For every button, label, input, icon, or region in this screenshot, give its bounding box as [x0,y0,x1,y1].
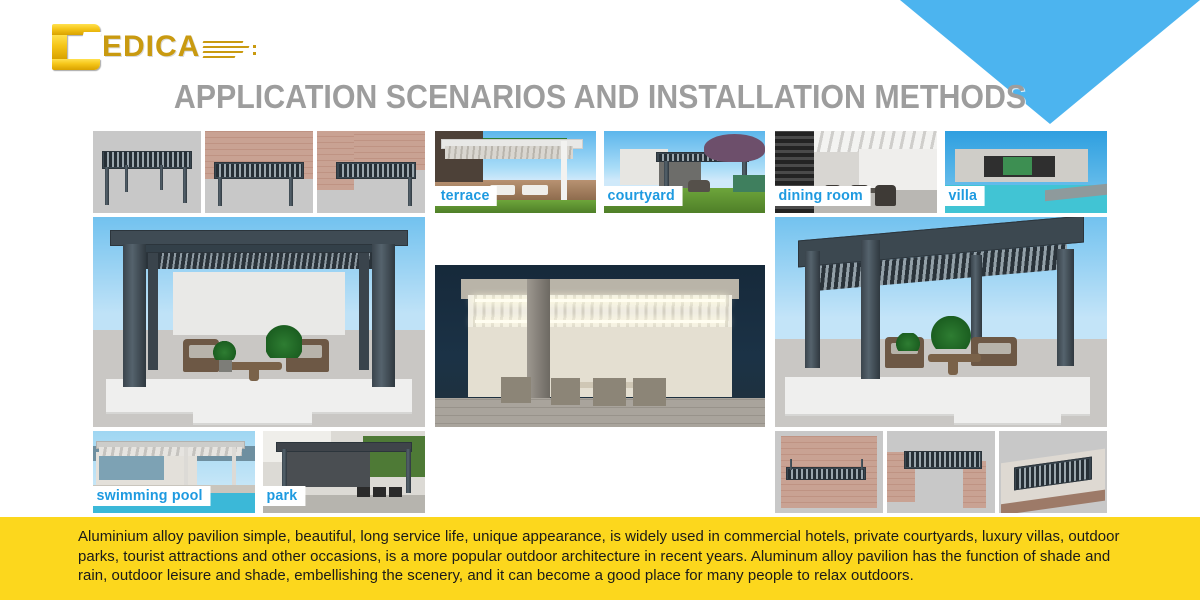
description-banner: Aluminium alloy pavilion simple, beautif… [0,517,1200,600]
brand-logo: EDICA [52,24,256,70]
photo-caption-swimming-pool: swimming pool [93,486,210,506]
description-text: Aluminium alloy pavilion simple, beautif… [78,527,1122,586]
install-thumb-two-wall-corner[interactable] [887,431,995,513]
gallery-grid: terrace courtyard [93,131,1107,513]
hero-pergola-night-photo[interactable] [435,217,765,427]
brand-name: EDICA [102,27,200,67]
page-title: APPLICATION SCENARIOS AND INSTALLATION M… [48,78,1152,116]
install-thumb-freestanding[interactable] [93,131,201,213]
hero-pergola-front-render[interactable] [93,217,425,427]
scenario-photos-top-right: dining room villa [775,131,1107,213]
installation-methods-top-strip [93,131,425,213]
scenario-photos-bottom-left: swimming pool park [93,431,425,513]
logo-dots-icon [253,39,256,55]
photo-caption-terrace: terrace [435,186,497,206]
installation-methods-bottom-strip [775,431,1107,513]
install-thumb-corner-attached[interactable] [317,131,425,213]
photo-caption-villa: villa [945,186,985,206]
install-thumb-wall-mounted-cantilever[interactable] [775,431,883,513]
photo-caption-courtyard: courtyard [604,186,683,206]
scenario-photo-terrace[interactable]: terrace [435,131,596,213]
scenario-photos-top-left: terrace courtyard [435,131,765,213]
scenario-photo-park[interactable]: park [263,431,425,513]
scenario-photo-courtyard[interactable]: courtyard [604,131,765,213]
photo-caption-park: park [263,486,305,506]
scenario-photo-swimming-pool[interactable]: swimming pool [93,431,255,513]
logo-e-mark-icon [52,24,100,70]
install-thumb-recessed-flush[interactable] [999,431,1107,513]
hero-center-spacer [435,431,765,513]
scenario-photo-dining-room[interactable]: dining room [775,131,937,213]
install-thumb-wall-attached[interactable] [205,131,313,213]
logo-speed-lines-icon [203,37,249,58]
hero-pergola-perspective-render[interactable] [775,217,1107,427]
scenario-photo-villa[interactable]: villa [945,131,1107,213]
photo-caption-dining-room: dining room [775,186,871,206]
